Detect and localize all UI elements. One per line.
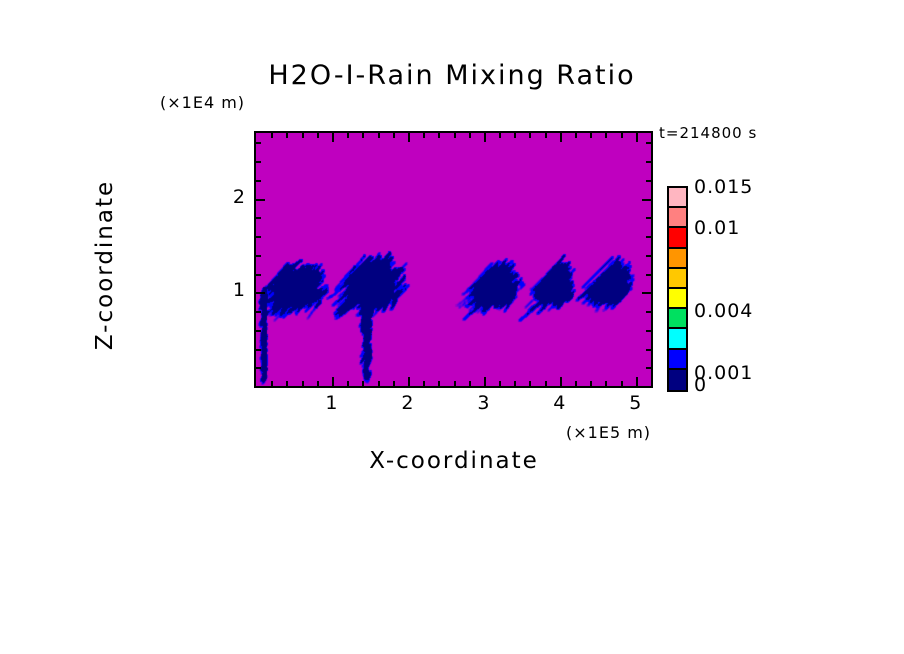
x-tick xyxy=(605,381,607,386)
x-tick xyxy=(362,381,364,386)
x-tick-top xyxy=(408,133,410,142)
colorbar-label: 0.015 xyxy=(694,176,753,198)
x-tick-top xyxy=(484,133,486,142)
x-tick-label: 1 xyxy=(312,392,352,414)
y-tick xyxy=(256,311,261,313)
x-tick-top xyxy=(499,133,501,138)
x-tick xyxy=(514,381,516,386)
y-tick xyxy=(256,180,261,182)
x-tick-label: 3 xyxy=(464,392,504,414)
x-tick xyxy=(286,381,288,386)
x-tick-top xyxy=(393,133,395,138)
x-tick-top xyxy=(423,133,425,138)
y-tick-right xyxy=(646,236,651,238)
y-tick-right xyxy=(646,142,651,144)
x-tick-top xyxy=(636,133,638,142)
y-tick-right xyxy=(646,274,651,276)
x-tick-top xyxy=(575,133,577,138)
colorbar-band xyxy=(669,370,686,390)
y-tick-right xyxy=(642,292,651,294)
x-tick-top xyxy=(271,133,273,138)
x-tick-top xyxy=(590,133,592,138)
x-tick xyxy=(636,377,638,386)
colorbar-label: 0 xyxy=(694,374,707,396)
x-tick-top xyxy=(545,133,547,138)
chart-title: H2O-I-Rain Mixing Ratio xyxy=(0,60,904,91)
y-tick xyxy=(256,199,265,201)
x-tick-top xyxy=(454,133,456,138)
x-tick-top xyxy=(317,133,319,138)
y-tick-right xyxy=(646,330,651,332)
y-tick-right xyxy=(646,255,651,257)
x-tick-top xyxy=(347,133,349,138)
y-tick xyxy=(256,292,265,294)
x-tick-top xyxy=(438,133,440,138)
x-tick xyxy=(378,381,380,386)
x-tick-top xyxy=(378,133,380,138)
x-tick xyxy=(454,381,456,386)
x-tick-top xyxy=(286,133,288,138)
x-tick xyxy=(423,381,425,386)
y-tick-label: 2 xyxy=(206,186,246,208)
y-tick xyxy=(256,255,261,257)
x-tick-top xyxy=(560,133,562,142)
plot-area xyxy=(254,131,653,388)
y-axis-title: Z-coordinate xyxy=(92,115,118,415)
x-tick xyxy=(484,377,486,386)
x-tick xyxy=(271,381,273,386)
y-tick-right xyxy=(646,161,651,163)
x-tick-label: 4 xyxy=(540,392,580,414)
colorbar-band xyxy=(669,289,686,309)
colorbar-label: 0.01 xyxy=(694,217,740,239)
x-tick xyxy=(438,381,440,386)
x-tick xyxy=(590,381,592,386)
x-tick xyxy=(393,381,395,386)
y-tick-right xyxy=(646,349,651,351)
y-tick xyxy=(256,330,261,332)
x-tick-label: 5 xyxy=(616,392,656,414)
y-tick xyxy=(256,236,261,238)
x-tick-top xyxy=(469,133,471,138)
x-tick xyxy=(529,381,531,386)
colorbar-band xyxy=(669,350,686,370)
colorbar-band xyxy=(669,269,686,289)
x-tick xyxy=(317,381,319,386)
x-tick-top xyxy=(332,133,334,142)
colorbar-label: 0.004 xyxy=(694,300,753,322)
x-tick xyxy=(469,381,471,386)
x-tick-top xyxy=(514,133,516,138)
rain-field-heatmap xyxy=(256,133,651,386)
x-tick xyxy=(575,381,577,386)
x-tick xyxy=(302,381,304,386)
time-annotation: t=214800 s xyxy=(659,124,757,142)
x-tick-top xyxy=(605,133,607,138)
x-tick xyxy=(545,381,547,386)
y-tick xyxy=(256,367,261,369)
y-axis-units-label: (×1E4 m) xyxy=(160,93,245,112)
x-tick-top xyxy=(302,133,304,138)
y-tick xyxy=(256,161,261,163)
y-tick xyxy=(256,142,261,144)
y-tick-right xyxy=(646,311,651,313)
colorbar-band xyxy=(669,188,686,208)
y-tick-label: 1 xyxy=(206,279,246,301)
x-tick-top xyxy=(362,133,364,138)
colorbar-band xyxy=(669,208,686,228)
colorbar xyxy=(667,186,688,392)
x-tick-top xyxy=(621,133,623,138)
x-axis-units-label: (×1E5 m) xyxy=(566,423,651,442)
y-tick xyxy=(256,274,261,276)
x-tick xyxy=(499,381,501,386)
colorbar-band xyxy=(669,329,686,349)
x-axis-title: X-coordinate xyxy=(254,448,654,474)
colorbar-band xyxy=(669,249,686,269)
figure-canvas: H2O-I-Rain Mixing Ratio (×1E4 m) t=21480… xyxy=(0,0,904,654)
y-tick-right xyxy=(646,217,651,219)
y-tick-right xyxy=(646,180,651,182)
y-tick-right xyxy=(642,199,651,201)
colorbar-band xyxy=(669,309,686,329)
colorbar-band xyxy=(669,228,686,248)
y-tick-right xyxy=(646,367,651,369)
y-tick xyxy=(256,349,261,351)
x-tick xyxy=(332,377,334,386)
x-tick-label: 2 xyxy=(388,392,428,414)
x-tick xyxy=(621,381,623,386)
y-tick xyxy=(256,217,261,219)
x-tick-top xyxy=(529,133,531,138)
x-tick xyxy=(347,381,349,386)
x-tick xyxy=(560,377,562,386)
x-tick xyxy=(408,377,410,386)
